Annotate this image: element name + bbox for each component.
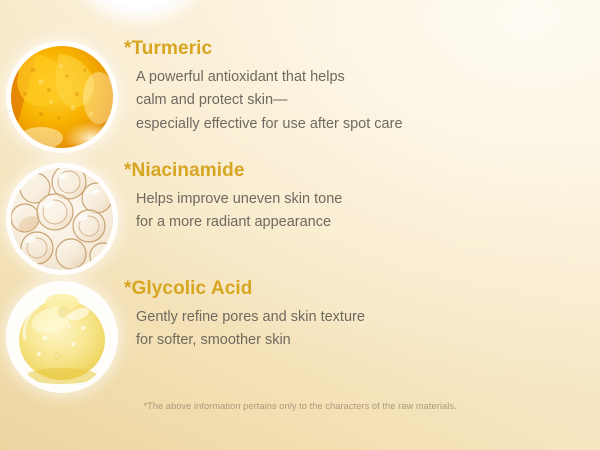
description-line: A powerful antioxidant that helps [136, 66, 403, 89]
disclaimer-footnote: *The above information pertains only to … [0, 401, 600, 411]
ingredient-text-block: *Glycolic Acid Gently refine pores and s… [124, 275, 365, 353]
ingredient-row: *Niacinamide Helps improve uneven skin t… [0, 157, 600, 281]
ingredient-thumbnail-wrap [0, 35, 124, 159]
description-line: especially effective for use after spot … [136, 113, 403, 136]
description-line: calm and protect skin— [136, 89, 403, 112]
ingredient-text-block: *Turmeric A powerful antioxidant that he… [124, 35, 403, 136]
ingredient-list: *Turmeric A powerful antioxidant that he… [0, 0, 600, 450]
description-line: for softer, smoother skin [136, 329, 365, 352]
ingredient-name: *Glycolic Acid [124, 278, 365, 300]
ingredient-name: *Niacinamide [124, 160, 342, 182]
description-line: for a more radiant appearance [136, 211, 342, 234]
ingredient-thumbnail-wrap [0, 275, 124, 399]
ingredient-text-block: *Niacinamide Helps improve uneven skin t… [124, 157, 342, 235]
glycolic-acid-gel-photo [11, 286, 113, 388]
turmeric-powder-photo [11, 46, 113, 148]
description-line: Helps improve uneven skin tone [136, 188, 342, 211]
ingredient-thumbnail-wrap [0, 157, 124, 281]
ingredient-description: Helps improve uneven skin tone for a mor… [124, 188, 342, 235]
description-line: Gently refine pores and skin texture [136, 306, 365, 329]
ingredient-row: *Glycolic Acid Gently refine pores and s… [0, 275, 600, 399]
ingredient-description: A powerful antioxidant that helps calm a… [124, 66, 403, 136]
ingredient-infographic: *Turmeric A powerful antioxidant that he… [0, 0, 600, 450]
ingredient-description: Gently refine pores and skin texture for… [124, 306, 365, 353]
ingredient-row: *Turmeric A powerful antioxidant that he… [0, 35, 600, 159]
niacinamide-bubbles-photo [11, 168, 113, 270]
ingredient-name: *Turmeric [124, 38, 403, 60]
